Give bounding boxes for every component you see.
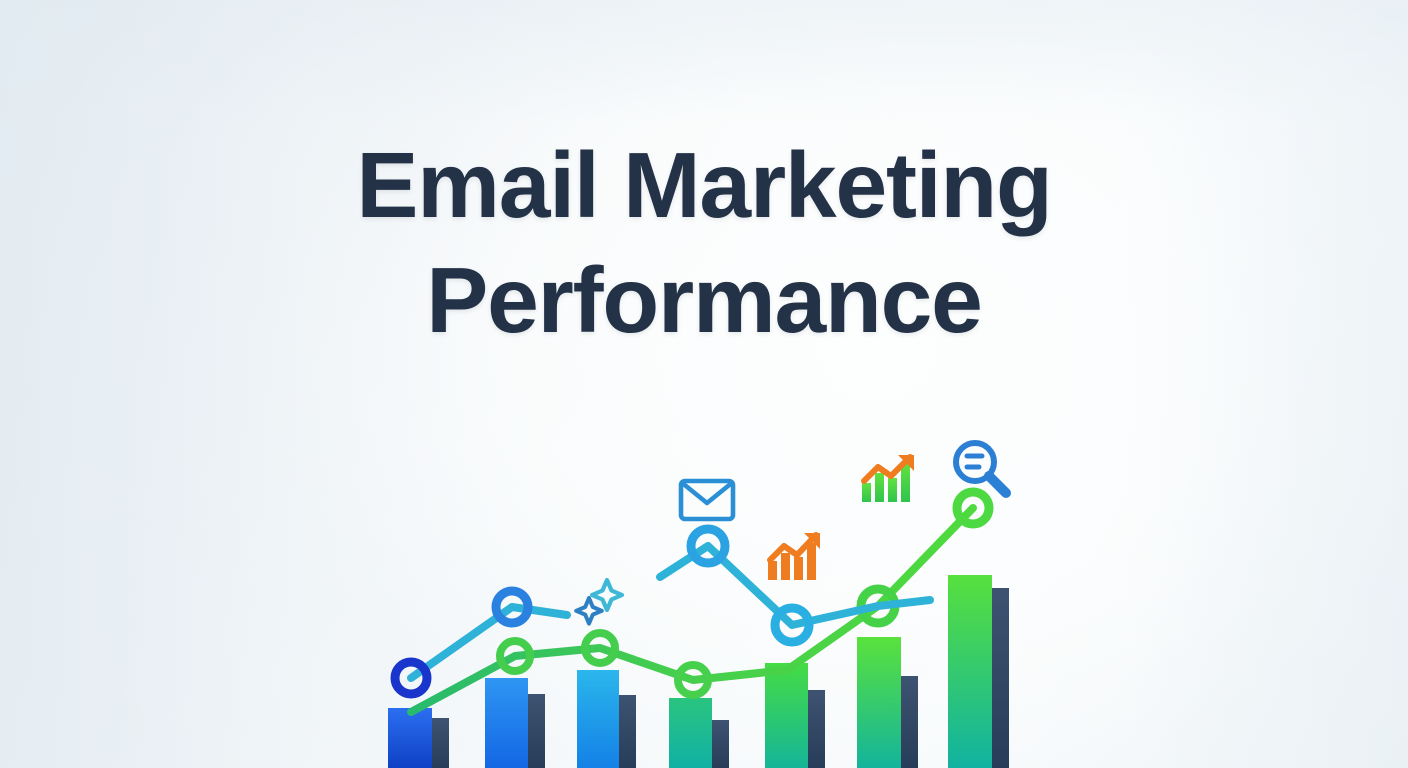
green-bar-3: [888, 478, 897, 502]
bar-secondary-3: [619, 695, 636, 768]
poster-canvas: Email Marketing Performance: [0, 0, 1408, 768]
bar-primary-6: [857, 637, 901, 768]
bar-pair-6: [857, 637, 918, 768]
bar-primary-1: [388, 708, 432, 768]
bar-secondary-1: [432, 718, 449, 768]
sparkle-large: [592, 580, 622, 610]
growth-chart-green-icon: [862, 455, 914, 502]
chart-svg: [0, 0, 1408, 768]
orange-bar-2: [781, 553, 790, 580]
bar-secondary-7: [992, 588, 1009, 768]
magnifier-handle: [989, 476, 1006, 493]
bar-primary-4: [669, 698, 712, 768]
bar-primary-2: [485, 678, 528, 768]
bar-secondary-6: [901, 676, 918, 768]
green-bar-1: [862, 483, 871, 502]
envelope-flap: [684, 484, 731, 503]
bar-primary-7: [948, 575, 992, 768]
bar-pair-2: [485, 678, 545, 768]
email-marketing-chart-figure: [0, 0, 1408, 768]
bar-pair-5: [765, 663, 825, 768]
bar-pair-3: [577, 670, 636, 768]
envelope-icon: [681, 481, 733, 519]
bar-secondary-2: [528, 694, 545, 768]
sparkle-small: [576, 598, 602, 624]
bar-primary-3: [577, 670, 619, 768]
magnifier-analytics-icon: [956, 443, 1006, 493]
bar-primary-5: [765, 663, 808, 768]
bar-secondary-4: [712, 720, 729, 768]
bar-secondary-5: [808, 690, 825, 768]
orange-bar-3: [794, 557, 803, 580]
bar-pair-7: [948, 575, 1009, 768]
orange-bar-4: [807, 543, 816, 580]
green-bar-2: [875, 473, 884, 502]
sparkles-icon: [576, 580, 622, 624]
orange-bar-1: [768, 561, 777, 580]
growth-chart-orange-icon: [768, 533, 820, 580]
bar-pair-4: [669, 698, 729, 768]
bar-pair-1: [388, 708, 449, 768]
